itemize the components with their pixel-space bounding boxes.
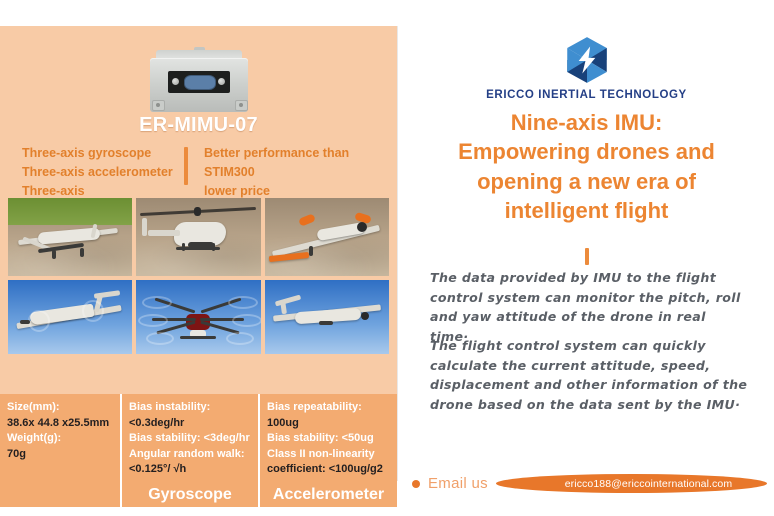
- spec-line: Bias instability:: [129, 400, 251, 416]
- unmanned-helicopter-on-ground: [136, 198, 260, 276]
- right-white-panel: ERICCO INERTIAL TECHNOLOGY Nine-axis IMU…: [397, 26, 774, 481]
- body-paragraph-2: The flight control system can quickly ca…: [430, 336, 748, 414]
- headline-line: Nine-axis IMU:: [416, 108, 757, 137]
- spec-column-physical: Size(mm): 38.6x 44.8 x25.5mm Weight(g): …: [0, 394, 120, 507]
- page-title: Nine-axis IMU: Empowering drones and ope…: [416, 108, 757, 226]
- spec-line: 100ug: [267, 416, 390, 432]
- headline-line: Empowering drones and: [416, 137, 757, 166]
- email-address[interactable]: ericco188@ericcointernational.com: [496, 474, 767, 493]
- spec-line: 38.6x 44.8 x25.5mm: [7, 416, 113, 432]
- ericco-hexagon-logo-icon: [561, 34, 613, 86]
- tail-sitter-uav-on-ground: [265, 198, 389, 276]
- feature-item: Better performance than: [204, 144, 374, 163]
- spec-caption-accelerometer: Accelerometer: [260, 486, 397, 504]
- fixed-wing-uav-in-flight: [265, 280, 389, 354]
- headline-line: intelligent flight: [416, 196, 757, 225]
- spec-line: 70g: [7, 447, 113, 463]
- imu-device-photo: [150, 50, 248, 112]
- spec-line: <0.3deg/hr: [129, 416, 251, 432]
- spec-line: coefficient: <100ug/g2: [267, 462, 390, 478]
- feature-divider: [184, 147, 188, 185]
- email-label: Email us: [428, 475, 488, 492]
- spec-column-gyroscope: Bias instability: <0.3deg/hr Bias stabil…: [120, 394, 258, 507]
- product-model-name: ER-MIMU-07: [0, 114, 397, 137]
- headline-line: opening a new era of: [416, 167, 757, 196]
- spec-line: Weight(g):: [7, 431, 113, 447]
- spec-line: Bias stability: <50ug: [267, 431, 390, 447]
- spec-caption-gyroscope: Gyroscope: [122, 486, 258, 504]
- twin-prop-uav-in-flight: [8, 280, 132, 354]
- spec-line: Class II non-linearity: [267, 447, 390, 463]
- left-orange-panel: ER-MIMU-07 Three-axis gyroscope Three-ax…: [0, 26, 397, 481]
- drone-photo-grid: [8, 198, 389, 354]
- spec-column-accelerometer: Bias repeatability: 100ug Bias stability…: [258, 394, 397, 507]
- specifications-table: Size(mm): 38.6x 44.8 x25.5mm Weight(g): …: [0, 394, 397, 507]
- feature-item: STIM300: [204, 163, 374, 182]
- feature-column-advantages: Better performance than STIM300 lower pr…: [204, 144, 374, 201]
- flyer-page: ER-MIMU-07 Three-axis gyroscope Three-ax…: [0, 0, 774, 516]
- brand-name: ERICCO INERTIAL TECHNOLOGY: [398, 89, 774, 101]
- spec-line: Size(mm):: [7, 400, 113, 416]
- email-footer: Email us ericco188@ericcointernational.c…: [412, 474, 767, 493]
- feature-item: Three-axis accelerometer: [22, 163, 174, 182]
- fixed-wing-uav-on-ground: [8, 198, 132, 276]
- spec-line: <0.125°/ √h: [129, 462, 251, 478]
- spec-line: Bias stability: <3deg/hr: [129, 431, 251, 447]
- spec-line: Angular random walk:: [129, 447, 251, 463]
- spec-line: Bias repeatability:: [267, 400, 390, 416]
- body-paragraph-1: The data provided by IMU to the flight c…: [430, 268, 748, 346]
- hexacopter-drone-in-flight: [136, 280, 260, 354]
- product-image: [0, 34, 397, 112]
- bullet-dot-icon: [412, 480, 420, 488]
- headline-divider: [585, 248, 589, 265]
- brand-block: ERICCO INERTIAL TECHNOLOGY: [398, 34, 774, 101]
- feature-item: Three-axis gyroscope: [22, 144, 174, 163]
